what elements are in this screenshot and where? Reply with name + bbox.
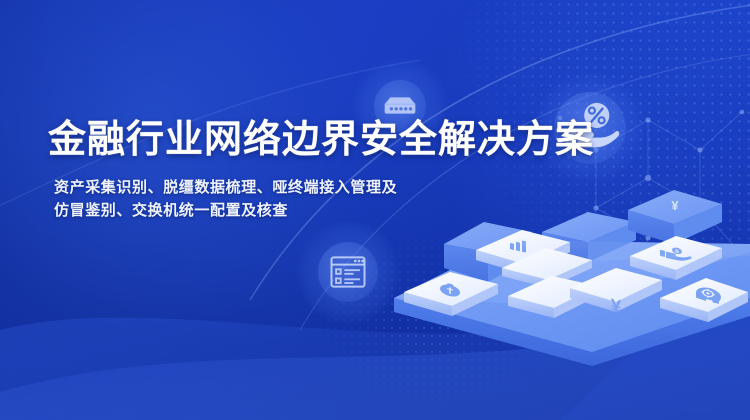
finance-network-security-banner: ¥ — [0, 0, 750, 420]
page-subtitle: 资产采集识别、脱缰数据梳理、哑终端接入管理及 仿冒鉴别、交换机统一配置及核查 — [54, 176, 518, 222]
svg-text:¥: ¥ — [611, 296, 622, 319]
page-title: 金融行业网络边界安全解决方案 — [48, 118, 518, 162]
subtitle-line-1: 资产采集识别、脱缰数据梳理、哑终端接入管理及 — [54, 176, 518, 199]
document-list-badge — [296, 220, 400, 324]
svg-text:¥: ¥ — [671, 198, 679, 213]
banner-text-block: 金融行业网络边界安全解决方案 资产采集识别、脱缰数据梳理、哑终端接入管理及 仿冒… — [48, 118, 518, 222]
platform-block-yen-right: ¥ — [628, 190, 722, 244]
subtitle-line-2: 仿冒鉴别、交换机统一配置及核查 — [54, 199, 518, 222]
document-list-icon — [326, 250, 370, 294]
